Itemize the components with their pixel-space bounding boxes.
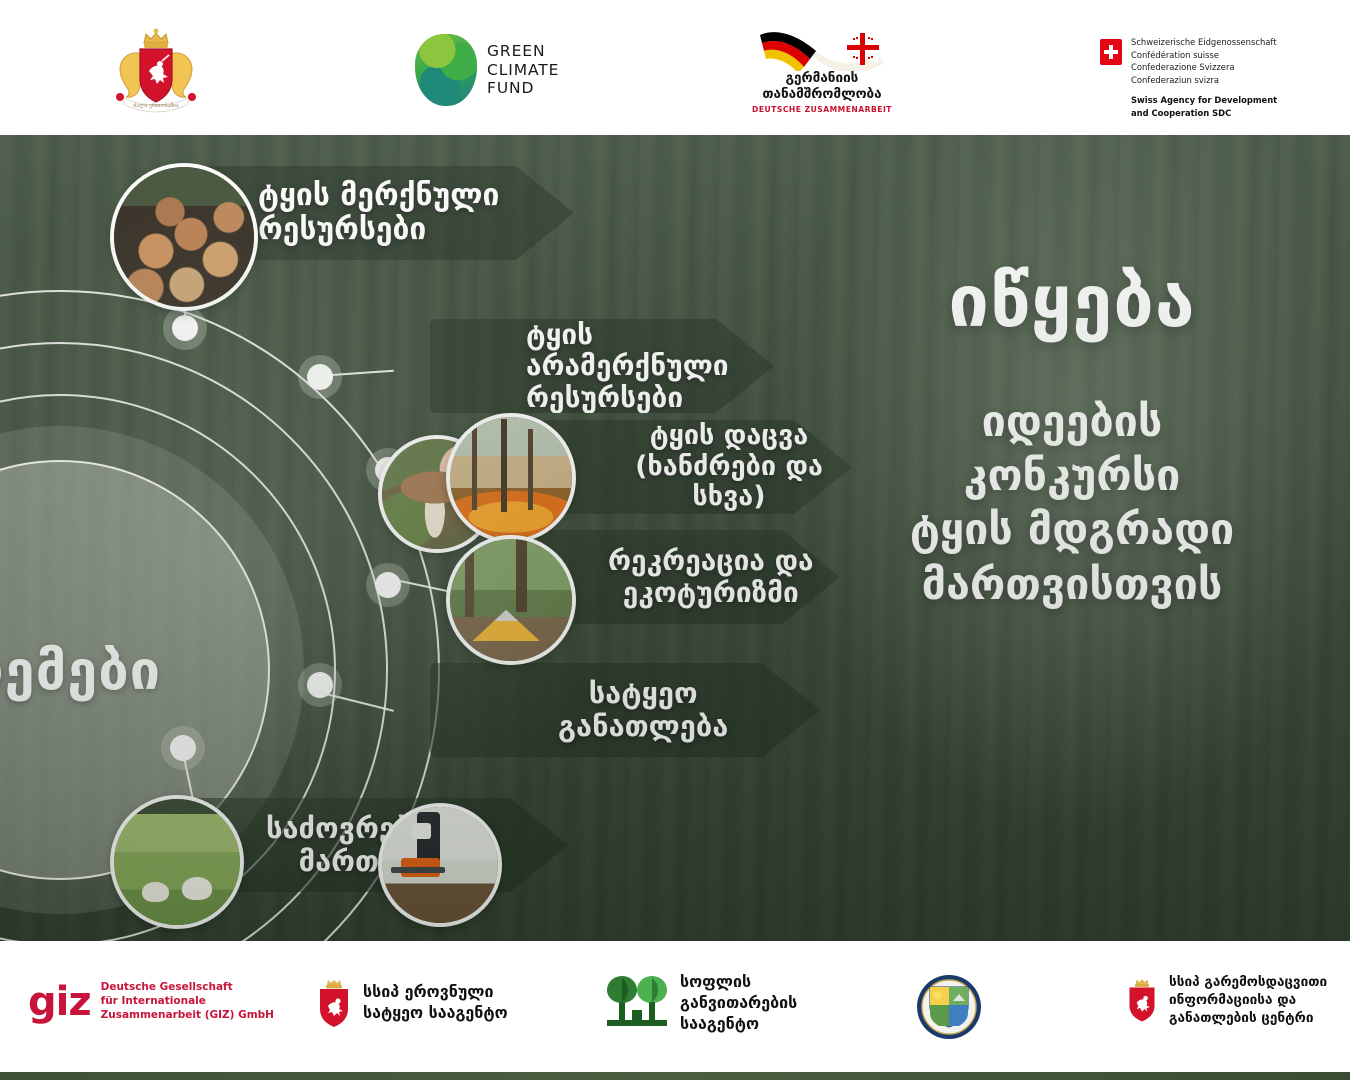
ministry-seal-icon — [915, 973, 983, 1041]
sdc-line-de: Schweizerische Eidgenossenschaft — [1131, 36, 1277, 49]
topic-label-2: ტყის არამერქნული რესურსები — [526, 319, 774, 414]
fire-tree-2 — [501, 419, 507, 512]
logo-georgia-coat-of-arms: ძალა ერთობაშია — [104, 27, 208, 115]
sdc-agency-line-2: and Cooperation SDC — [1131, 107, 1277, 120]
sdc-line-rm: Confederaziun svizra — [1131, 74, 1277, 87]
headline-block: იწყება იდეების კონკურსი ტყის მდგრადი მარ… — [812, 265, 1332, 612]
swiss-sdc-text-block: Schweizerische Eidgenossenschaft Confédé… — [1131, 36, 1277, 120]
node-2 — [307, 364, 333, 390]
gcf-line-3: FUND — [487, 79, 559, 98]
topic-banner-2[interactable]: ტყის არამერქნული რესურსები — [430, 319, 774, 413]
logo-swiss-sdc: Schweizerische Eidgenossenschaft Confédé… — [1100, 36, 1277, 120]
main-forest-stage: თემები ტყის მერქნული რესურსები ტყის არამ… — [0, 135, 1350, 941]
top-logo-bar: ძალა ერთობაშია GREEN CLIMATE FUND — [0, 0, 1350, 135]
green-climate-fund-wordmark: GREEN CLIMATE FUND — [487, 42, 559, 99]
footer-logo-bar: giz Deutsche Gesellschaft für Internatio… — [0, 941, 1350, 1072]
topic-label-1: ტყის მერქნული რესურსები — [258, 179, 499, 247]
poster-root: ძალა ერთობაშია GREEN CLIMATE FUND — [0, 0, 1350, 1080]
sdc-line-fr: Confédération suisse — [1131, 49, 1277, 62]
node-1 — [172, 315, 198, 341]
logo-giz: giz Deutsche Gesellschaft für Internatio… — [28, 981, 274, 1023]
sdc-line-it: Confederazione Svizzera — [1131, 61, 1277, 74]
national-forestry-agency-text: სსიპ ეროვნული სატყეო სააგენტო — [363, 982, 508, 1024]
german-cooperation-ka-text: გერმანიის თანამშრომლობა — [762, 71, 881, 103]
german-coop-ka-line-1: გერმანიის — [762, 71, 881, 87]
node-6 — [170, 735, 196, 761]
environmental-education-centre-text: სსიპ გარემოსდაცვითი ინფორმაციისა და განა… — [1169, 973, 1327, 1028]
hub-label: თემები — [0, 639, 161, 702]
topic-label-4: რეკრეაცია და ეკოტურიზმი — [608, 545, 814, 608]
topic-label-5: სატყეო განათლება — [558, 677, 728, 743]
logo-german-cooperation: გერმანიის თანამშრომლობა DEUTSCHE ZUSAMME… — [752, 25, 892, 114]
topic-photo-1 — [110, 163, 258, 311]
sheep-1 — [142, 882, 170, 902]
bottom-green-strip — [0, 1072, 1350, 1080]
green-climate-fund-icon — [415, 34, 477, 106]
headline-sub: იდეების კონკურსი ტყის მდგრადი მართვისთვი… — [812, 395, 1332, 612]
logo-ministry-seal — [915, 973, 983, 1041]
tent-tree-1 — [465, 539, 474, 617]
topic-banner-5[interactable]: სატყეო განათლება — [430, 663, 820, 757]
giz-tagline: Deutsche Gesellschaft für Internationale… — [101, 981, 274, 1023]
chainsaw-photo — [382, 807, 498, 923]
topic-photo-3 — [446, 413, 576, 543]
forest-fire-photo — [450, 417, 572, 539]
trees-house-icon — [604, 972, 670, 1034]
logo-national-forestry-agency: სსიპ ეროვნული სატყეო სააგენტო — [315, 979, 508, 1027]
sdc-agency-line-1: Swiss Agency for Development — [1131, 94, 1277, 107]
gcf-line-1: GREEN — [487, 42, 559, 61]
fire-tree-3 — [528, 429, 533, 510]
german-coop-ka-line-2: თანამშრომლობა — [762, 87, 881, 103]
sheep-pasture-photo — [114, 799, 240, 925]
georgia-shield-icon-2 — [1125, 978, 1159, 1022]
headline-main: იწყება — [812, 265, 1332, 337]
logo-environmental-education-centre: სსიპ გარემოსდაცვითი ინფორმაციისა და განა… — [1125, 973, 1327, 1028]
topic-photo-4 — [446, 535, 576, 665]
topic-photo-6 — [110, 795, 244, 929]
georgia-coat-of-arms-icon: ძალა ერთობაშია — [104, 27, 208, 115]
rural-development-agency-text: სოფლის განვითარების სააგენტო — [680, 971, 797, 1034]
node-5 — [307, 672, 333, 698]
topic-photo-5 — [378, 803, 502, 927]
node-4 — [375, 572, 401, 598]
swiss-cross-icon — [1100, 39, 1122, 65]
tent-tree-2 — [516, 539, 527, 612]
logs-photo — [114, 167, 254, 307]
fire-tree-1 — [472, 424, 477, 509]
german-cooperation-de-text: DEUTSCHE ZUSAMMENARBEIT — [752, 105, 892, 114]
worker-boot — [412, 823, 431, 839]
giz-wordmark: giz — [28, 983, 91, 1021]
gcf-line-2: CLIMATE — [487, 61, 559, 80]
chainsaw-bar — [391, 867, 444, 873]
german-georgian-flags-icon — [752, 25, 892, 71]
logo-rural-development-agency: სოფლის განვითარების სააგენტო — [604, 971, 797, 1034]
svg-text:ძალა ერთობაშია: ძალა ერთობაშია — [133, 102, 178, 109]
georgia-shield-icon — [315, 979, 353, 1027]
logo-green-climate-fund: GREEN CLIMATE FUND — [415, 34, 559, 106]
sheep-2 — [182, 877, 212, 900]
